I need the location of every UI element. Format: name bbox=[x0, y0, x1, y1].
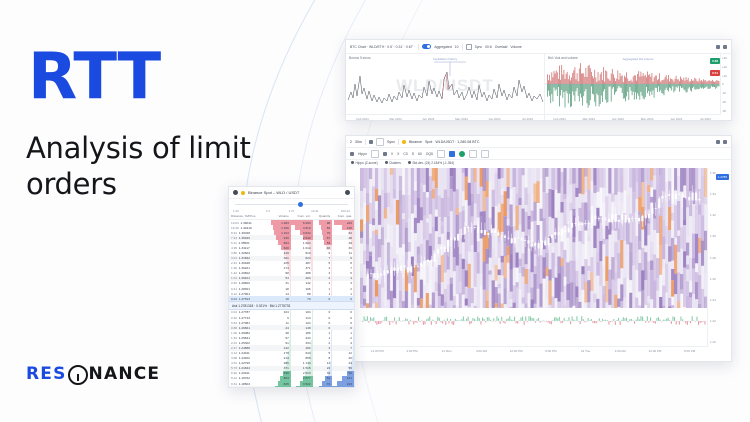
y-tick: +2K bbox=[721, 65, 731, 69]
cell-value: 186 bbox=[305, 331, 310, 335]
logo-text-res: RES bbox=[26, 364, 67, 384]
y-tick: -2K bbox=[721, 100, 731, 104]
overlaid-label[interactable]: Overlaid bbox=[495, 45, 508, 49]
heatmap-canvas bbox=[360, 168, 707, 308]
cell-value: 22 bbox=[327, 366, 330, 370]
cell-value: 72 bbox=[327, 382, 330, 386]
cell-value: 30 bbox=[349, 246, 352, 250]
cell-cum-volume: 4 563 bbox=[291, 386, 313, 388]
cell-value: 3 bbox=[328, 346, 330, 350]
cell-value: 9 bbox=[350, 256, 352, 260]
current-price-tag: 1.2785 bbox=[716, 174, 729, 180]
cell-value: 4 bbox=[350, 276, 352, 280]
cell-value: 0 bbox=[350, 310, 352, 314]
cell-value: 178 bbox=[284, 351, 289, 355]
cell-value: 309 bbox=[347, 387, 352, 388]
cell-value: 466 bbox=[305, 346, 310, 350]
top-chart-window: BTC Chart · WLD/ETH · 0.5' · 0.31' · 0.6… bbox=[345, 39, 732, 121]
table-body[interactable]: 10.04 1.390411 2836 0939824310.49 1.4041… bbox=[229, 220, 354, 389]
y-tick: 1.22 bbox=[708, 319, 731, 323]
x-tick: Jun 2024 bbox=[662, 115, 691, 121]
cell-value: 7 bbox=[350, 266, 352, 270]
toolbar-divider-2 bbox=[462, 44, 463, 50]
cell-value: 62 bbox=[349, 231, 352, 235]
y-tick: +1K bbox=[721, 74, 731, 78]
price-axis[interactable]: 1.36 1.34 1.32 1.30 1.28 1.26 1.24 1.22 … bbox=[707, 168, 731, 347]
cell-value: 1 bbox=[350, 331, 352, 335]
cell-value: 6 093 bbox=[303, 221, 311, 225]
scale-tick: 1.20 bbox=[233, 209, 256, 213]
legend-dot-icon bbox=[408, 161, 411, 164]
cell-cum-quantity: 309 bbox=[332, 386, 354, 388]
cell-value: 141 bbox=[347, 376, 352, 380]
cell-value: 104 bbox=[305, 310, 310, 314]
cell-value: 106 bbox=[305, 287, 310, 291]
cell-value: 0 bbox=[328, 310, 330, 314]
logo-circle-icon bbox=[68, 365, 88, 385]
indicator-name[interactable]: Hippo bbox=[358, 152, 367, 156]
cell-value: 1 041 bbox=[281, 387, 289, 388]
cell-value: 1 283 bbox=[281, 221, 289, 225]
top-chart-title: BTC Chart · WLD/ETH · 0.5' · 0.31' · 0.6… bbox=[350, 45, 415, 49]
x-tick: Mar 2024 bbox=[379, 115, 412, 121]
cell-value: 98 bbox=[327, 221, 330, 225]
palette-icon[interactable] bbox=[371, 150, 379, 158]
cell-value: 38 bbox=[285, 331, 288, 335]
cell-value: 371 bbox=[284, 366, 289, 370]
cell-value: 145 bbox=[347, 226, 352, 230]
settings-icon[interactable] bbox=[350, 152, 354, 156]
resonance-logo: RES NANCE bbox=[26, 364, 160, 384]
toolbar-divider-2 bbox=[398, 139, 399, 145]
cell-value: 90 bbox=[349, 371, 352, 375]
grid-icon[interactable] bbox=[469, 150, 477, 158]
depth-bar bbox=[319, 386, 332, 388]
bid-ask-histogram bbox=[545, 54, 731, 115]
cell-value: 4 563 bbox=[303, 387, 311, 388]
x-tick: Feb 2024 bbox=[545, 115, 574, 121]
aggregate-count[interactable]: 10 bbox=[455, 45, 459, 49]
settings-icon[interactable] bbox=[716, 45, 720, 49]
sync-label: Sync bbox=[475, 45, 483, 49]
cell-value: 845 bbox=[284, 382, 289, 386]
cell-value: 225 bbox=[284, 261, 289, 265]
cell-value: 1 104 bbox=[281, 231, 289, 235]
tool-button[interactable]: S bbox=[412, 152, 414, 156]
legend-item[interactable]: Hippo (Z-score) bbox=[351, 161, 378, 165]
volume-label[interactable]: Volume bbox=[510, 45, 521, 49]
x-tick: May 2024 bbox=[445, 115, 478, 121]
replay-icon[interactable] bbox=[369, 140, 373, 144]
cell-value: 24 bbox=[285, 326, 288, 330]
left-pane-label: Borrow 5 euros bbox=[349, 56, 371, 60]
tool-button[interactable]: C0 bbox=[403, 152, 407, 156]
cell-value: 9 bbox=[328, 251, 330, 255]
cell-value: 142 bbox=[305, 281, 310, 285]
x-tick: 22 Tue bbox=[568, 347, 603, 355]
cell-value: 148 bbox=[305, 326, 310, 330]
x-tick: 21 Mon bbox=[429, 347, 464, 355]
toolbar-divider bbox=[418, 44, 419, 50]
order-book-window: Binance Spot – WLD / USDT 1.20 0.1 1.27 … bbox=[228, 186, 355, 388]
cell-value: 11 bbox=[349, 251, 352, 255]
cell-value: 4 810 bbox=[303, 226, 311, 230]
cell-value: 83 bbox=[327, 226, 330, 230]
tag-red: 0.51 bbox=[710, 70, 720, 76]
cell-value: 371 bbox=[305, 266, 310, 270]
cell-value: 173 bbox=[284, 266, 289, 270]
cell-value: 243 bbox=[305, 336, 310, 340]
cell-value: 8 bbox=[350, 261, 352, 265]
scale-tick: 0.1 bbox=[256, 209, 279, 213]
cell-value: 1 166 bbox=[281, 226, 289, 230]
x-tick: Jun 2024 bbox=[478, 115, 511, 121]
x-tick: 12:00 PM bbox=[638, 347, 673, 355]
aggregate-label: Aggregated bbox=[434, 45, 452, 49]
cell-value: 4 bbox=[328, 266, 330, 270]
cell-value: 14 bbox=[327, 361, 330, 365]
scale-tick: 100.22 bbox=[327, 209, 350, 213]
cell-value: 644 bbox=[305, 351, 310, 355]
x-tick: 8:00 PM bbox=[672, 347, 707, 355]
cell-value: 3 644 bbox=[303, 231, 311, 235]
right-pane-label: Bid / Ask and volume bbox=[548, 56, 578, 60]
cell-value: 4 bbox=[350, 341, 352, 345]
market-selector[interactable]: Spot bbox=[425, 140, 432, 144]
cell-value: 54 bbox=[285, 276, 288, 280]
cell-value: 12 bbox=[349, 351, 352, 355]
cell-value: 46 bbox=[327, 246, 330, 250]
legend-label: Clusters bbox=[389, 161, 401, 165]
x-tick: Mar 2024 bbox=[574, 115, 603, 121]
logo-text-nance: NANCE bbox=[89, 364, 161, 384]
scale-tick: 1.27 bbox=[280, 209, 303, 213]
indicator-button[interactable] bbox=[376, 138, 384, 146]
cell-value: 14 bbox=[285, 292, 288, 296]
liquidation-line-pane[interactable]: Borrow 5 euros Liquidation history WLD/U… bbox=[346, 54, 545, 121]
cell-value: 1 bbox=[328, 292, 330, 296]
cell-distance: 10.26 1.17440 bbox=[229, 386, 269, 388]
cell-value: 2 540 bbox=[303, 236, 311, 240]
share-icon[interactable] bbox=[716, 140, 720, 144]
y-tick: 1.24 bbox=[708, 298, 731, 302]
scale-tick: 10.31 bbox=[303, 209, 326, 213]
sync-label[interactable]: Sync bbox=[387, 140, 395, 144]
cell-value: 620 bbox=[284, 246, 289, 250]
brand-wordmark: RTT bbox=[28, 45, 160, 109]
sync-value[interactable]: 00:6 bbox=[485, 45, 492, 49]
time-axis[interactable]: 12:00 PM 4:00 PM 21 Mon 4:00 AM 12:00 PM… bbox=[360, 346, 707, 355]
right-pane-y-axis: +3K +2K +1K 0 -1K -2K -3K bbox=[720, 54, 731, 115]
cell-value: 48 bbox=[349, 236, 352, 240]
legend-item[interactable]: Std.dev. (24) 2.184% (-1.354) bbox=[408, 161, 454, 165]
cell-value: 804 bbox=[284, 241, 289, 245]
cell-value: 7 bbox=[328, 256, 330, 260]
x-tick: 4:00 AM bbox=[603, 347, 638, 355]
tag-green: 0.68 bbox=[710, 58, 720, 64]
cell-value: 0 bbox=[328, 316, 330, 320]
main-chart-plot[interactable]: Cumulative volume 1.36 1.34 1.32 1.30 1.… bbox=[346, 158, 731, 361]
y-tick: 1.26 bbox=[708, 277, 731, 281]
y-tick: 1.30 bbox=[708, 234, 731, 238]
cell-value: 1 515 bbox=[303, 366, 311, 370]
x-tick: 4:00 PM bbox=[395, 347, 430, 355]
legend-label: Hippo (Z-score) bbox=[356, 161, 378, 165]
order-book-title: Binance Spot – WLD / USDT bbox=[248, 190, 299, 195]
cell-value: 5 bbox=[328, 261, 330, 265]
y-tick: 0 bbox=[721, 82, 731, 86]
spread-separator: Ask 1.2781318 · 0.021% · Bid 1.2778733 bbox=[229, 302, 354, 310]
depth-slider[interactable] bbox=[235, 200, 348, 209]
cell-value: 3 522 bbox=[303, 382, 311, 386]
table-row[interactable]: 10.26 1.174401 0414 56396309 bbox=[229, 386, 354, 388]
interval-selector[interactable]: 30m bbox=[355, 140, 362, 144]
cell-value: 1 bbox=[328, 336, 330, 340]
cell-value: 2 bbox=[350, 336, 352, 340]
presentation-slide: RTT Analysis of limit orders RES NANCE B… bbox=[0, 0, 750, 422]
slider-knob[interactable] bbox=[298, 202, 303, 207]
cell-value: 88 bbox=[307, 292, 310, 296]
exchange-selector[interactable]: Binance bbox=[409, 140, 422, 144]
depth-heatmap[interactable] bbox=[360, 168, 707, 308]
order-book-table[interactable]: Distance, %/Price Volume Cum. vol. Quant… bbox=[229, 213, 354, 388]
cell-value: 810 bbox=[305, 251, 310, 255]
x-tick: Jul 2024 bbox=[691, 115, 720, 121]
cell-value: 56 bbox=[349, 366, 352, 370]
cell-value: 7 bbox=[350, 346, 352, 350]
spread-label: Ask 1.2781318 · 0.021% · Bid 1.2778733 bbox=[229, 302, 354, 310]
legend-item[interactable]: Clusters bbox=[385, 161, 401, 165]
bid-ask-volume-pane[interactable]: Bid / Ask and volume Aggregated bid volu… bbox=[545, 54, 731, 121]
cell-value: 113 bbox=[306, 316, 311, 320]
x-tick: Apr 2024 bbox=[603, 115, 632, 121]
cell-value: 0 bbox=[328, 326, 330, 330]
coin-icon bbox=[241, 191, 245, 195]
cell-value: 104 bbox=[284, 310, 289, 314]
cell-value: 1 bbox=[328, 331, 330, 335]
chart-count[interactable]: 2 bbox=[350, 140, 352, 144]
cell-value: 1 bbox=[328, 287, 330, 291]
cell-value: 9 bbox=[287, 316, 289, 320]
tool-button[interactable]: 60 bbox=[418, 152, 422, 156]
fullscreen-icon[interactable] bbox=[723, 45, 727, 49]
cell-value: 67 bbox=[327, 236, 330, 240]
cell-value: 3 bbox=[328, 271, 330, 275]
cell-value: 11 bbox=[286, 321, 289, 325]
x-tick: 8:00 PM bbox=[534, 347, 569, 355]
cell-value: 40 bbox=[349, 241, 352, 245]
x-tick: 12:00 PM bbox=[499, 347, 534, 355]
cell-value: 2 677 bbox=[303, 376, 311, 380]
right-pane-sublabel: Aggregated bid volume bbox=[623, 57, 654, 61]
cell-value: 96 bbox=[327, 387, 330, 388]
y-tick: 1.32 bbox=[708, 213, 731, 217]
y-tick: 1.34 bbox=[708, 192, 731, 196]
cell-value: 124 bbox=[305, 321, 310, 325]
y-tick: -3K bbox=[721, 109, 731, 113]
cell-value: 1 bbox=[350, 292, 352, 296]
right-pane-x-axis: Feb 2024 Mar 2024 Apr 2024 May 2024 Jun … bbox=[545, 114, 720, 121]
cell-value: 204 bbox=[305, 276, 310, 280]
cell-value: 2 013 bbox=[303, 371, 311, 375]
cell-value: 1 624 bbox=[303, 241, 311, 245]
legend-label: Std.dev. (24) 2.184% (-1.354) bbox=[412, 161, 454, 165]
volume-canvas bbox=[360, 310, 707, 332]
cell-value: 1 bbox=[328, 281, 330, 285]
cell-value: 91 bbox=[285, 341, 288, 345]
coin-icon bbox=[402, 140, 406, 144]
x-tick: May 2024 bbox=[633, 115, 662, 121]
cell-value: 79 bbox=[327, 231, 330, 235]
cell-value: 57 bbox=[285, 336, 288, 340]
main-chart-legend: Hippo (Z-score) Clusters Std.dev. (24) 2… bbox=[346, 158, 459, 167]
filter-icon[interactable] bbox=[383, 152, 387, 156]
top-chart-body: Borrow 5 euros Liquidation history WLD/U… bbox=[346, 54, 731, 121]
cell-value: 213 bbox=[347, 382, 352, 386]
measure-icon[interactable] bbox=[437, 150, 445, 158]
aggregate-toggle[interactable] bbox=[422, 44, 431, 49]
menu-icon[interactable] bbox=[345, 190, 350, 195]
cell-value: 0 bbox=[350, 321, 352, 325]
more-icon[interactable] bbox=[723, 140, 727, 144]
main-toolbar-actions[interactable] bbox=[716, 140, 727, 144]
top-chart-toolbar[interactable]: BTC Chart · WLD/ETH · 0.5' · 0.31' · 0.6… bbox=[346, 40, 731, 54]
cell-value: 288 bbox=[305, 271, 310, 275]
toolbar-divider bbox=[365, 139, 366, 145]
cell-value: 0 bbox=[350, 316, 352, 320]
cell-value: 20 bbox=[349, 356, 352, 360]
y-tick: 1.20 bbox=[708, 340, 731, 344]
cell-value: 51 bbox=[327, 376, 330, 380]
cell-value: 2 bbox=[328, 341, 330, 345]
cell-value: 214 bbox=[284, 356, 289, 360]
y-tick: -1K bbox=[721, 91, 731, 95]
cell-value: 31 bbox=[285, 281, 288, 285]
cell-value: 5 bbox=[328, 351, 330, 355]
cell-value: 858 bbox=[305, 356, 310, 360]
x-tick: Apr 2024 bbox=[412, 115, 445, 121]
chart-watermark: WLD/USDT bbox=[396, 76, 494, 96]
cell-value: 286 bbox=[284, 361, 289, 365]
cell-value: 2 bbox=[328, 276, 330, 280]
toolbar-right-actions[interactable] bbox=[716, 45, 727, 49]
cell-value: 664 bbox=[284, 376, 289, 380]
cell-value: 0 bbox=[328, 321, 330, 325]
main-chart-toolbar[interactable]: 2 30m Sync Binance Spot WLD/USDT · 1,280… bbox=[346, 136, 731, 148]
symbol-label: WLD/USDT · 1,280.08 BTC bbox=[435, 140, 479, 144]
cell-value: 34 bbox=[327, 371, 330, 375]
cell-value: 916 bbox=[284, 236, 289, 240]
volume-delta-pane[interactable] bbox=[360, 310, 707, 332]
left-pane-x-axis: Feb 2024 Mar 2024 Apr 2024 May 2024 Jun … bbox=[346, 114, 544, 121]
x-tick: Feb 2024 bbox=[346, 115, 379, 121]
slider-scale: 1.20 0.1 1.27 10.31 100.22 bbox=[229, 209, 354, 213]
cell-value: 8 bbox=[328, 356, 330, 360]
x-tick: 4:00 AM bbox=[464, 347, 499, 355]
tool-button[interactable]: V bbox=[391, 152, 393, 156]
cell-value: 301 bbox=[284, 256, 289, 260]
legend-dot-icon bbox=[351, 161, 354, 164]
cell-volume: 1 041 bbox=[269, 386, 291, 388]
left-pane-sublabel: Liquidation history bbox=[433, 57, 457, 61]
cell-value: 1 144 bbox=[303, 361, 311, 365]
cell-value: 5 bbox=[350, 271, 352, 275]
cell-value: 59 bbox=[327, 241, 330, 245]
cell-value: 34 bbox=[349, 361, 352, 365]
y-tick: +3K bbox=[721, 56, 731, 60]
cell-value: 498 bbox=[284, 371, 289, 375]
tool-button[interactable]: X bbox=[397, 152, 399, 156]
cell-value: 243 bbox=[347, 221, 352, 225]
layout-icon[interactable] bbox=[481, 150, 489, 158]
cell-quantity: 96 bbox=[313, 386, 333, 388]
cell-value: 1 014 bbox=[303, 246, 311, 250]
sync-checkbox[interactable] bbox=[466, 44, 472, 50]
gear-icon[interactable] bbox=[233, 190, 238, 195]
cell-value: 624 bbox=[305, 256, 310, 260]
cell-value: 18 bbox=[285, 287, 288, 291]
record-icon[interactable] bbox=[459, 151, 465, 157]
cell-value: 98 bbox=[285, 271, 288, 275]
order-book-header: Binance Spot – WLD / USDT bbox=[229, 187, 354, 199]
slider-track bbox=[235, 204, 348, 205]
cell-value: 0 bbox=[350, 326, 352, 330]
active-tool-icon[interactable] bbox=[449, 151, 455, 157]
cell-value: 132 bbox=[284, 346, 289, 350]
x-tick: 12:00 PM bbox=[360, 347, 395, 355]
legend-dot-icon bbox=[385, 161, 388, 164]
x-tick: Jul 2024 bbox=[511, 115, 544, 121]
main-chart-window: 2 30m Sync Binance Spot WLD/USDT · 1,280… bbox=[345, 135, 732, 362]
cell-value: 487 bbox=[305, 261, 310, 265]
cell-value: 419 bbox=[284, 251, 289, 255]
cell-value: 3 bbox=[350, 281, 352, 285]
y-tick: 1.28 bbox=[708, 256, 731, 260]
cell-value: 2 bbox=[350, 287, 352, 291]
cell-value: 334 bbox=[305, 341, 310, 345]
tool-button[interactable]: OQ5 bbox=[426, 152, 433, 156]
